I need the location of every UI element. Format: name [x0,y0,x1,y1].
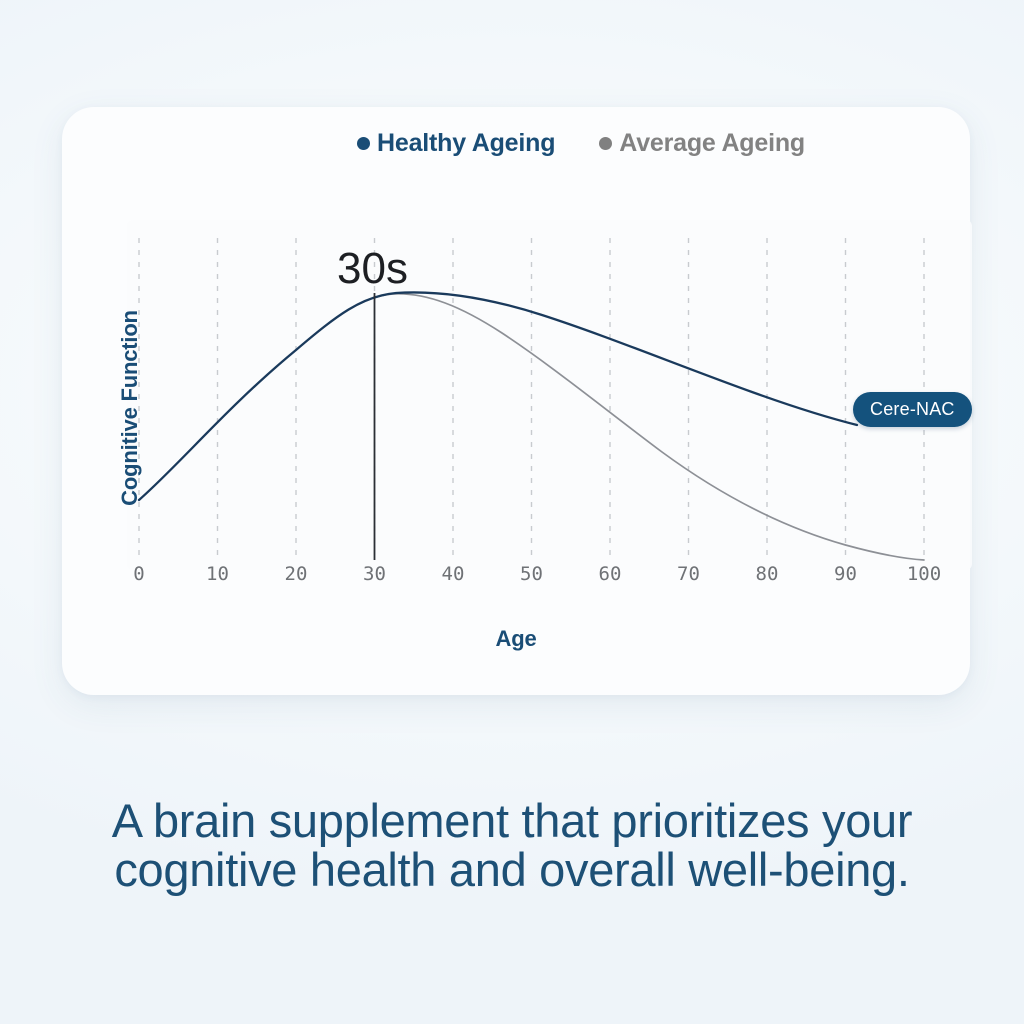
tagline-line-1: A brain supplement that prioritizes your [0,796,1024,845]
x-tick-label: 80 [756,563,779,585]
x-tick-label: 40 [442,563,465,585]
cere-nac-badge[interactable]: Cere-NAC [853,392,972,427]
x-tick-label: 100 [907,563,941,585]
x-tick-label: 50 [520,563,543,585]
x-axis-tick-labels: 0 10 20 30 40 50 60 70 80 90 100 [62,563,970,593]
x-tick-label: 70 [677,563,700,585]
chart-card: Healthy Ageing Average Ageing [62,107,970,695]
x-axis-label: Age [62,626,970,652]
y-axis-label: Cognitive Function [117,293,143,523]
x-tick-label: 0 [133,563,144,585]
x-tick-label: 60 [599,563,622,585]
x-tick-label: 10 [206,563,229,585]
peak-annotation-label: 30s [337,244,408,294]
chart-plot-area [62,107,970,695]
tagline-line-2: cognitive health and overall well-being. [0,845,1024,894]
series-line-healthy-ageing [139,292,857,500]
chart-gridlines [139,238,924,560]
x-tick-label: 90 [834,563,857,585]
x-tick-label: 20 [285,563,308,585]
tagline: A brain supplement that prioritizes your… [0,796,1024,895]
series-line-average-ageing [139,294,924,560]
x-tick-label: 30 [363,563,386,585]
